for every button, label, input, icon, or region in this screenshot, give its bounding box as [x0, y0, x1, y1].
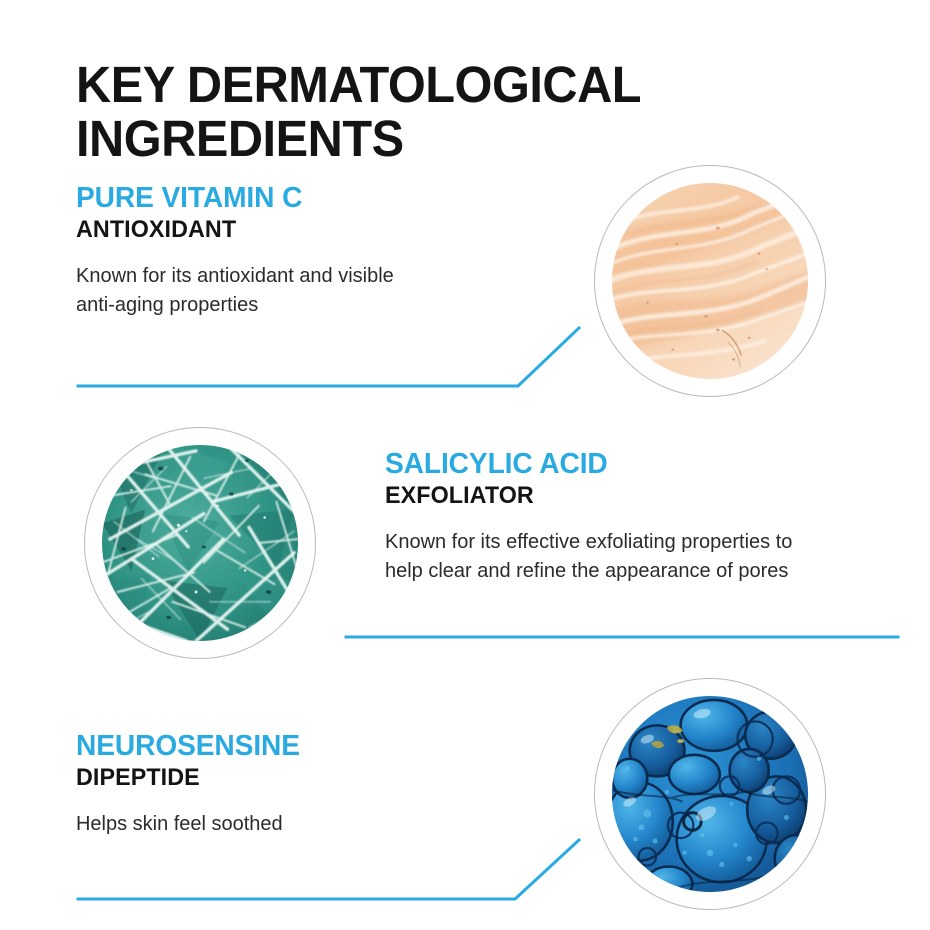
description-line-2: help clear and refine the appearance of … [385, 556, 892, 585]
ingredient-description-neurosensine: Helps skin feel soothed [76, 809, 534, 838]
vitamin-c-serum-swirl-photo [612, 183, 808, 379]
page-title: KEY DERMATOLOGICAL INGREDIENTS [76, 58, 745, 166]
ingredient-role-salicylic-acid: EXFOLIATOR [385, 481, 889, 511]
page-title-line-1: KEY DERMATOLOGICAL [76, 58, 745, 112]
ingredient-block-neurosensine: NEUROSENSINE DIPEPTIDE Helps skin feel s… [76, 730, 546, 838]
ingredient-name-salicylic-acid: SALICYLIC ACID [385, 448, 889, 481]
page-title-line-2: INGREDIENTS [76, 112, 745, 166]
ingredient-name-vitamin-c: PURE VITAMIN C [76, 182, 532, 215]
ingredient-role-neurosensine: DIPEPTIDE [76, 763, 532, 793]
ingredient-name-neurosensine: NEUROSENSINE [76, 730, 532, 763]
ingredient-photo-ring-salicylic-acid [84, 427, 316, 659]
ingredient-description-vitamin-c: Known for its antioxidant and visible an… [76, 261, 534, 319]
ingredient-block-salicylic-acid: SALICYLIC ACID EXFOLIATOR Known for its … [385, 448, 905, 585]
description-line-2: anti-aging properties [76, 290, 534, 319]
description-line-1: Known for its antioxidant and visible [76, 261, 534, 290]
ingredient-photo-ring-neurosensine [594, 678, 826, 910]
ingredient-description-salicylic-acid: Known for its effective exfoliating prop… [385, 527, 892, 585]
ingredient-role-vitamin-c: ANTIOXIDANT [76, 215, 532, 245]
key-ingredients-infographic: KEY DERMATOLOGICAL INGREDIENTS PURE VITA… [0, 0, 930, 930]
salicylic-acid-crystals-photo [102, 445, 298, 641]
neurosensine-bubbles-photo [612, 696, 808, 892]
description-line-1: Known for its effective exfoliating prop… [385, 527, 892, 556]
ingredient-block-vitamin-c: PURE VITAMIN C ANTIOXIDANT Known for its… [76, 182, 546, 319]
connector-neurosensine [78, 840, 579, 899]
connector-vitamin-c [78, 328, 579, 386]
description-line-1: Helps skin feel soothed [76, 809, 534, 838]
ingredient-photo-ring-vitamin-c [594, 165, 826, 397]
